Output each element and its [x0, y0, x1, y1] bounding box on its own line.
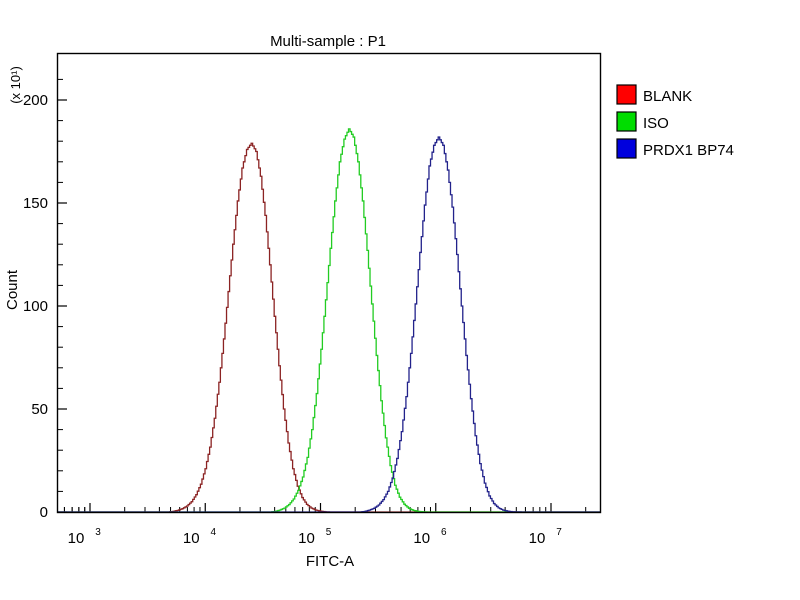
legend-label-blank: BLANK [643, 88, 692, 105]
legend-swatch-blank [617, 85, 636, 104]
chart-title: Multi-sample : P1 [270, 33, 386, 50]
x-axis-tick-exponent: 6 [441, 527, 447, 538]
x-axis-tick-label: 10 [298, 530, 315, 547]
histogram-curve-blank [58, 143, 600, 512]
y-axis-title: Count [4, 269, 21, 310]
x-axis-tick-label: 10 [413, 530, 430, 547]
y-axis-tick-label: 50 [31, 401, 48, 418]
histogram-chart: Multi-sample : P1 (x 10¹) Count FITC-A 1… [0, 0, 800, 600]
legend-swatch-iso [617, 112, 636, 131]
x-axis-tick-label: 10 [183, 530, 200, 547]
legend-label-prdx1-bp74: PRDX1 BP74 [643, 142, 734, 159]
legend-swatch-prdx1-bp74 [617, 139, 636, 158]
histogram-curve-prdx1-bp74 [58, 137, 600, 512]
chart-legend: BLANKISOPRDX1 BP74 [617, 85, 734, 159]
histogram-curve-iso [58, 129, 600, 512]
x-axis-tick-exponent: 5 [326, 527, 332, 538]
x-axis-tick-exponent: 4 [210, 527, 216, 538]
x-axis-tick-exponent: 3 [95, 527, 101, 538]
flow-cytometry-histogram-page: Multi-sample : P1 (x 10¹) Count FITC-A 1… [0, 0, 800, 600]
y-axis-tick-label: 0 [40, 504, 48, 521]
legend-label-iso: ISO [643, 115, 669, 132]
y-axis-tick-label: 200 [23, 92, 48, 109]
plot-curves [58, 129, 600, 512]
y-axis-multiplier-label: (x 10¹) [8, 66, 23, 104]
x-axis-tick-label: 10 [68, 530, 85, 547]
x-axis-title: FITC-A [306, 553, 354, 570]
x-axis-tick-exponent: 7 [556, 527, 562, 538]
x-axis-tick-label: 10 [529, 530, 546, 547]
y-axis-tick-label: 100 [23, 298, 48, 315]
y-axis-tick-label: 150 [23, 195, 48, 212]
